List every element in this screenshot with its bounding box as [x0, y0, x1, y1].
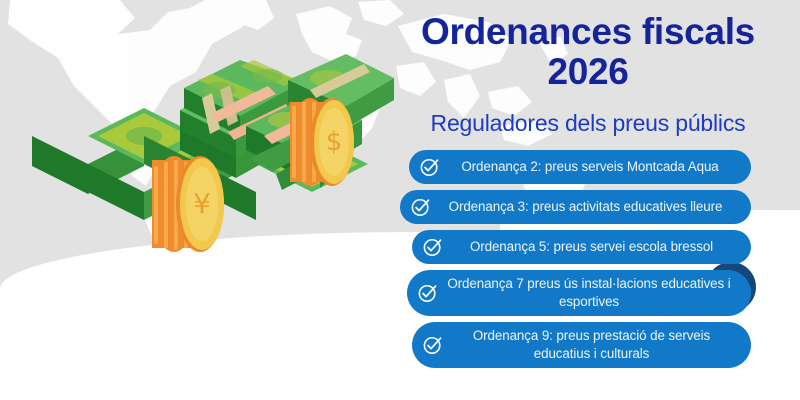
check-circle-icon — [422, 334, 444, 356]
check-circle-icon — [410, 196, 432, 218]
list-item-label: Ordenança 5: preus servei escola bressol — [448, 238, 739, 256]
check-circle-icon — [419, 156, 441, 178]
page-subtitle: Reguladores dels preus públics — [388, 110, 788, 137]
page-title: Ordenances fiscals 2026 — [388, 12, 788, 91]
list-item[interactable]: Ordenança 9: preus prestació de serveis … — [412, 322, 751, 368]
isometric-money-illustration: $ ¥ — [14, 14, 394, 314]
svg-text:$: $ — [326, 127, 343, 157]
title-line-2: 2026 — [388, 52, 788, 92]
gold-coin-yen: ¥ — [152, 156, 224, 252]
gold-coin-dollar: $ — [290, 98, 354, 186]
list-item[interactable]: Ordenança 3: preus activitats educatives… — [400, 190, 751, 224]
title-line-1: Ordenances fiscals — [388, 12, 788, 52]
poster-canvas: $ ¥ Ordenances fiscals 2026 Reguladores … — [0, 0, 800, 400]
list-item-label: Ordenança 2: preus serveis Montcada Aqua — [445, 158, 739, 176]
list-item-label: Ordenança 3: preus activitats educatives… — [436, 198, 739, 216]
list-item[interactable]: Ordenança 5: preus servei escola bressol — [412, 230, 751, 264]
ordinance-list: Ordenança 2: preus serveis Montcada Aqua… — [388, 150, 800, 374]
check-circle-icon — [422, 236, 444, 258]
svg-text:¥: ¥ — [193, 187, 211, 220]
content-column: Ordenances fiscals 2026 Reguladores dels… — [388, 0, 800, 400]
check-circle-icon — [417, 282, 439, 304]
list-item-label: Ordenança 9: preus prestació de serveis … — [448, 327, 739, 362]
list-item[interactable]: Ordenança 7 preus ús instal·lacions educ… — [407, 270, 751, 316]
list-item-label: Ordenança 7 preus ús instal·lacions educ… — [443, 275, 739, 310]
list-item[interactable]: Ordenança 2: preus serveis Montcada Aqua — [409, 150, 751, 184]
